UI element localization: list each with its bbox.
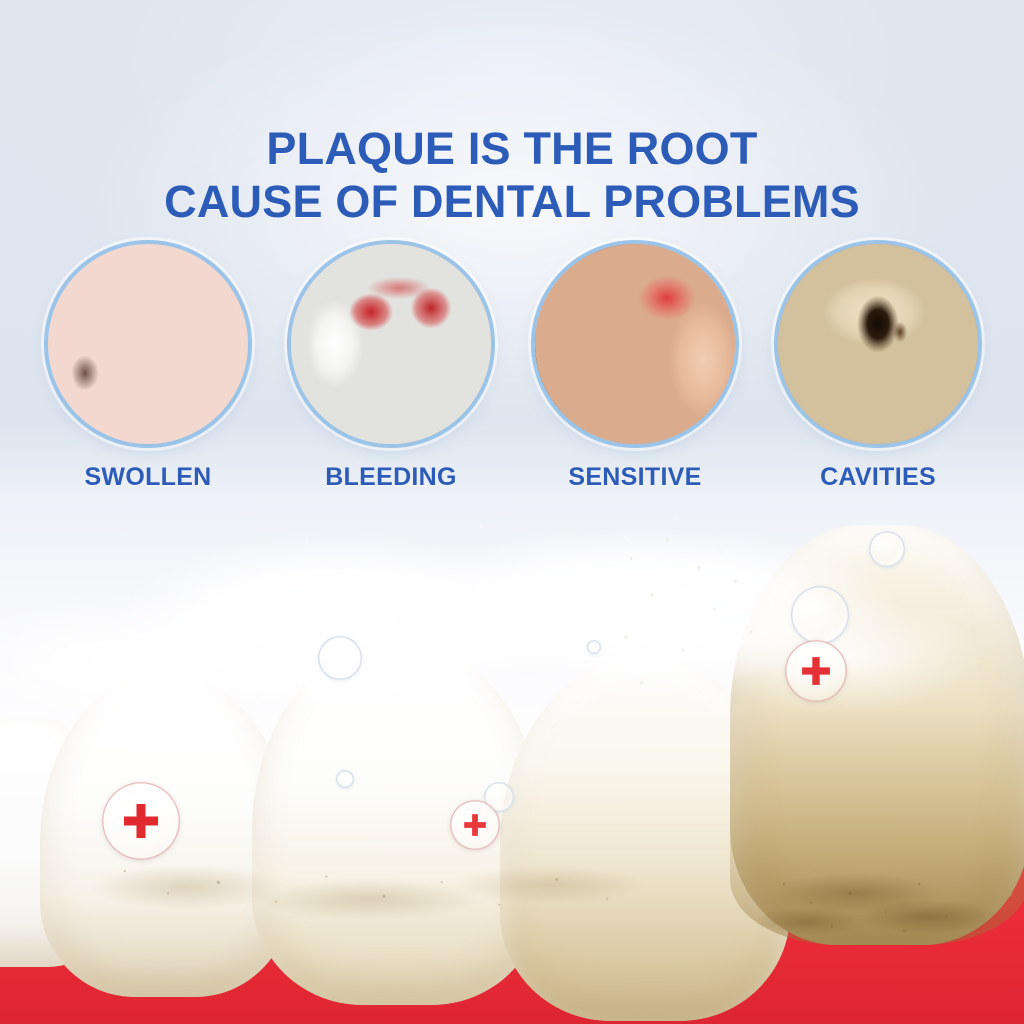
symptom-item-sensitive[interactable]: SENSITIVE bbox=[530, 244, 740, 493]
bubble-icon-4 bbox=[869, 531, 905, 567]
bubble-icon-5 bbox=[336, 770, 354, 788]
symptom-photo-cavities bbox=[778, 244, 978, 444]
symptom-photo-sensitive bbox=[535, 244, 735, 444]
symptom-photo-wrap-swollen-gums bbox=[48, 244, 248, 444]
bubble-icon-6 bbox=[587, 640, 601, 654]
teeth-hero-image bbox=[0, 495, 1024, 1024]
symptom-item-cavities[interactable]: CAVITIES bbox=[773, 244, 983, 493]
plaque-specks bbox=[730, 710, 1024, 945]
infographic-canvas: PLAQUE IS THE ROOT CAUSE OF DENTAL PROBL… bbox=[0, 0, 1024, 1024]
symptom-item-swollen-gums[interactable]: SWOLLEN GUMS bbox=[43, 244, 253, 523]
bleeding-gums-image bbox=[291, 244, 491, 444]
symptom-photo-swollen-gums bbox=[48, 244, 248, 444]
symptom-photo-bleeding-gums bbox=[291, 244, 491, 444]
cavity-molar-image bbox=[778, 244, 978, 444]
swollen-gums-image bbox=[48, 244, 248, 444]
symptom-photo-wrap-bleeding-gums bbox=[291, 244, 491, 444]
red-cross-icon bbox=[461, 811, 489, 839]
red-cross-icon bbox=[119, 799, 163, 843]
symptom-label-sensitive: SENSITIVE bbox=[530, 462, 740, 493]
bubble-icon-1 bbox=[318, 636, 362, 680]
red-cross-marker-1 bbox=[102, 782, 180, 860]
sensitive-tooth-pain-image bbox=[535, 244, 735, 444]
symptom-photo-wrap-cavities bbox=[778, 244, 978, 444]
red-cross-icon bbox=[798, 653, 834, 689]
symptom-label-cavities: CAVITIES bbox=[773, 462, 983, 493]
symptom-photo-wrap-sensitive bbox=[535, 244, 735, 444]
page-title: PLAQUE IS THE ROOT CAUSE OF DENTAL PROBL… bbox=[0, 122, 1024, 228]
tooth-gap-shadow bbox=[72, 356, 98, 390]
red-cross-marker-2 bbox=[450, 800, 500, 850]
symptom-list: SWOLLEN GUMS BLEEDING GUMS SENSITIVE bbox=[0, 244, 1024, 534]
symptom-item-bleeding-gums[interactable]: BLEEDING GUMS bbox=[286, 244, 496, 523]
tooth-4-molar-stained bbox=[730, 525, 1024, 945]
bubble-icon-3 bbox=[791, 586, 849, 644]
red-cross-marker-3 bbox=[785, 640, 847, 702]
plaque-stain bbox=[730, 710, 1024, 945]
